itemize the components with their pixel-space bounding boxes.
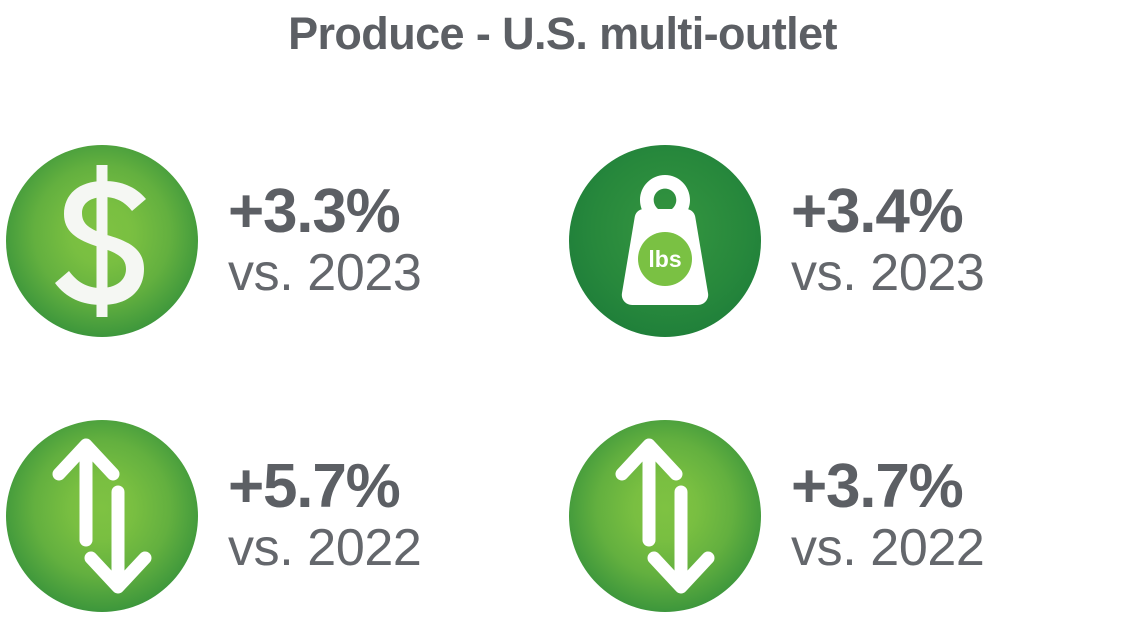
stat-value: +3.7% [791,455,1123,518]
page-title: Produce - U.S. multi-outlet [0,8,1125,60]
stat-value-block: +3.7% vs. 2022 [761,455,1123,576]
up-down-arrows-icon [569,420,761,612]
stat-comparison: vs. 2023 [228,245,560,301]
stat-comparison: vs. 2022 [791,520,1123,576]
stat-value-block: +3.3% vs. 2023 [198,180,560,301]
stat-card-dollar-sales-2022: +5.7% vs. 2022 [0,393,560,638]
stat-value: +3.4% [791,180,1123,243]
stats-grid: +3.3% vs. 2023 lbs +3.4% vs. 2023 [0,118,1125,609]
stat-card-volume-lbs-2022: +3.7% vs. 2022 [563,393,1123,638]
stat-value-block: +5.7% vs. 2022 [198,455,560,576]
lbs-badge-label: lbs [648,246,681,272]
stat-value-block: +3.4% vs. 2023 [761,180,1123,301]
dollar-sign-icon [6,145,198,337]
stat-value: +3.3% [228,180,560,243]
weight-lbs-icon: lbs [569,145,761,337]
stat-comparison: vs. 2023 [791,245,1123,301]
stat-comparison: vs. 2022 [228,520,560,576]
stat-card-dollar-sales-2023: +3.3% vs. 2023 [0,118,560,363]
up-down-arrows-icon [6,420,198,612]
stat-card-volume-lbs-2023: lbs +3.4% vs. 2023 [563,118,1123,363]
stat-value: +5.7% [228,455,560,518]
